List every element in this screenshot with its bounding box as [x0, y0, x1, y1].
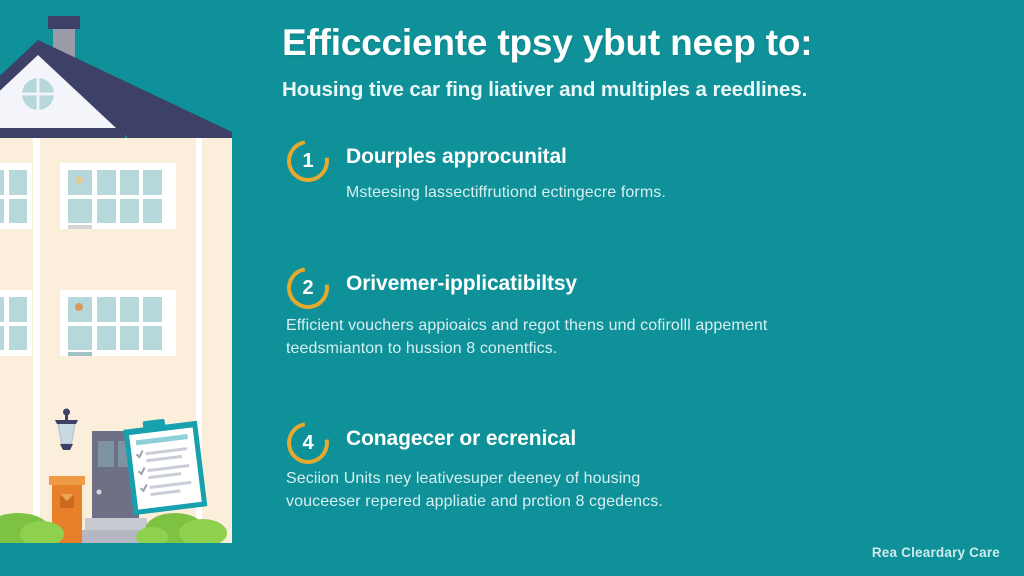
list-item-body: Seciion Units ney leativesuper deeney of…: [286, 468, 666, 513]
window-row-upper: [0, 163, 176, 229]
step-number-badge: 4: [287, 422, 329, 464]
step-number-label: 1: [287, 140, 329, 182]
clipboard-checklist-icon: [123, 415, 208, 515]
window-row-lower: [0, 290, 176, 356]
page-title: Efficcciente tpsy ybut neep to:: [282, 22, 982, 63]
list-item-heading: Dourples approcunital: [346, 145, 567, 169]
footer-brand: Rea Cleardary Care: [872, 545, 1000, 560]
list-item-body: Msteesing lassectiffrutiond ectingecre f…: [346, 182, 776, 205]
house-illustration: [0, 0, 240, 576]
poster-canvas: Efficcciente tpsy ybut neep to: Housing …: [0, 0, 1024, 576]
list-item-body: Efficient vouchers appioaics and regot t…: [286, 315, 866, 360]
step-number-label: 4: [287, 422, 329, 464]
step-number-label: 2: [287, 267, 329, 309]
step-number-badge: 2: [287, 267, 329, 309]
step-number-badge: 1: [287, 140, 329, 182]
attic-round-window-icon: [22, 78, 54, 110]
list-item-heading: Orivemer-ipplicatibiltsy: [346, 272, 577, 296]
list-item-heading: Conagecer or ecrenical: [346, 427, 576, 451]
content-column: Efficcciente tpsy ybut neep to: Housing …: [282, 0, 982, 576]
page-subtitle: Housing tive car fing liativer and multi…: [282, 78, 982, 103]
